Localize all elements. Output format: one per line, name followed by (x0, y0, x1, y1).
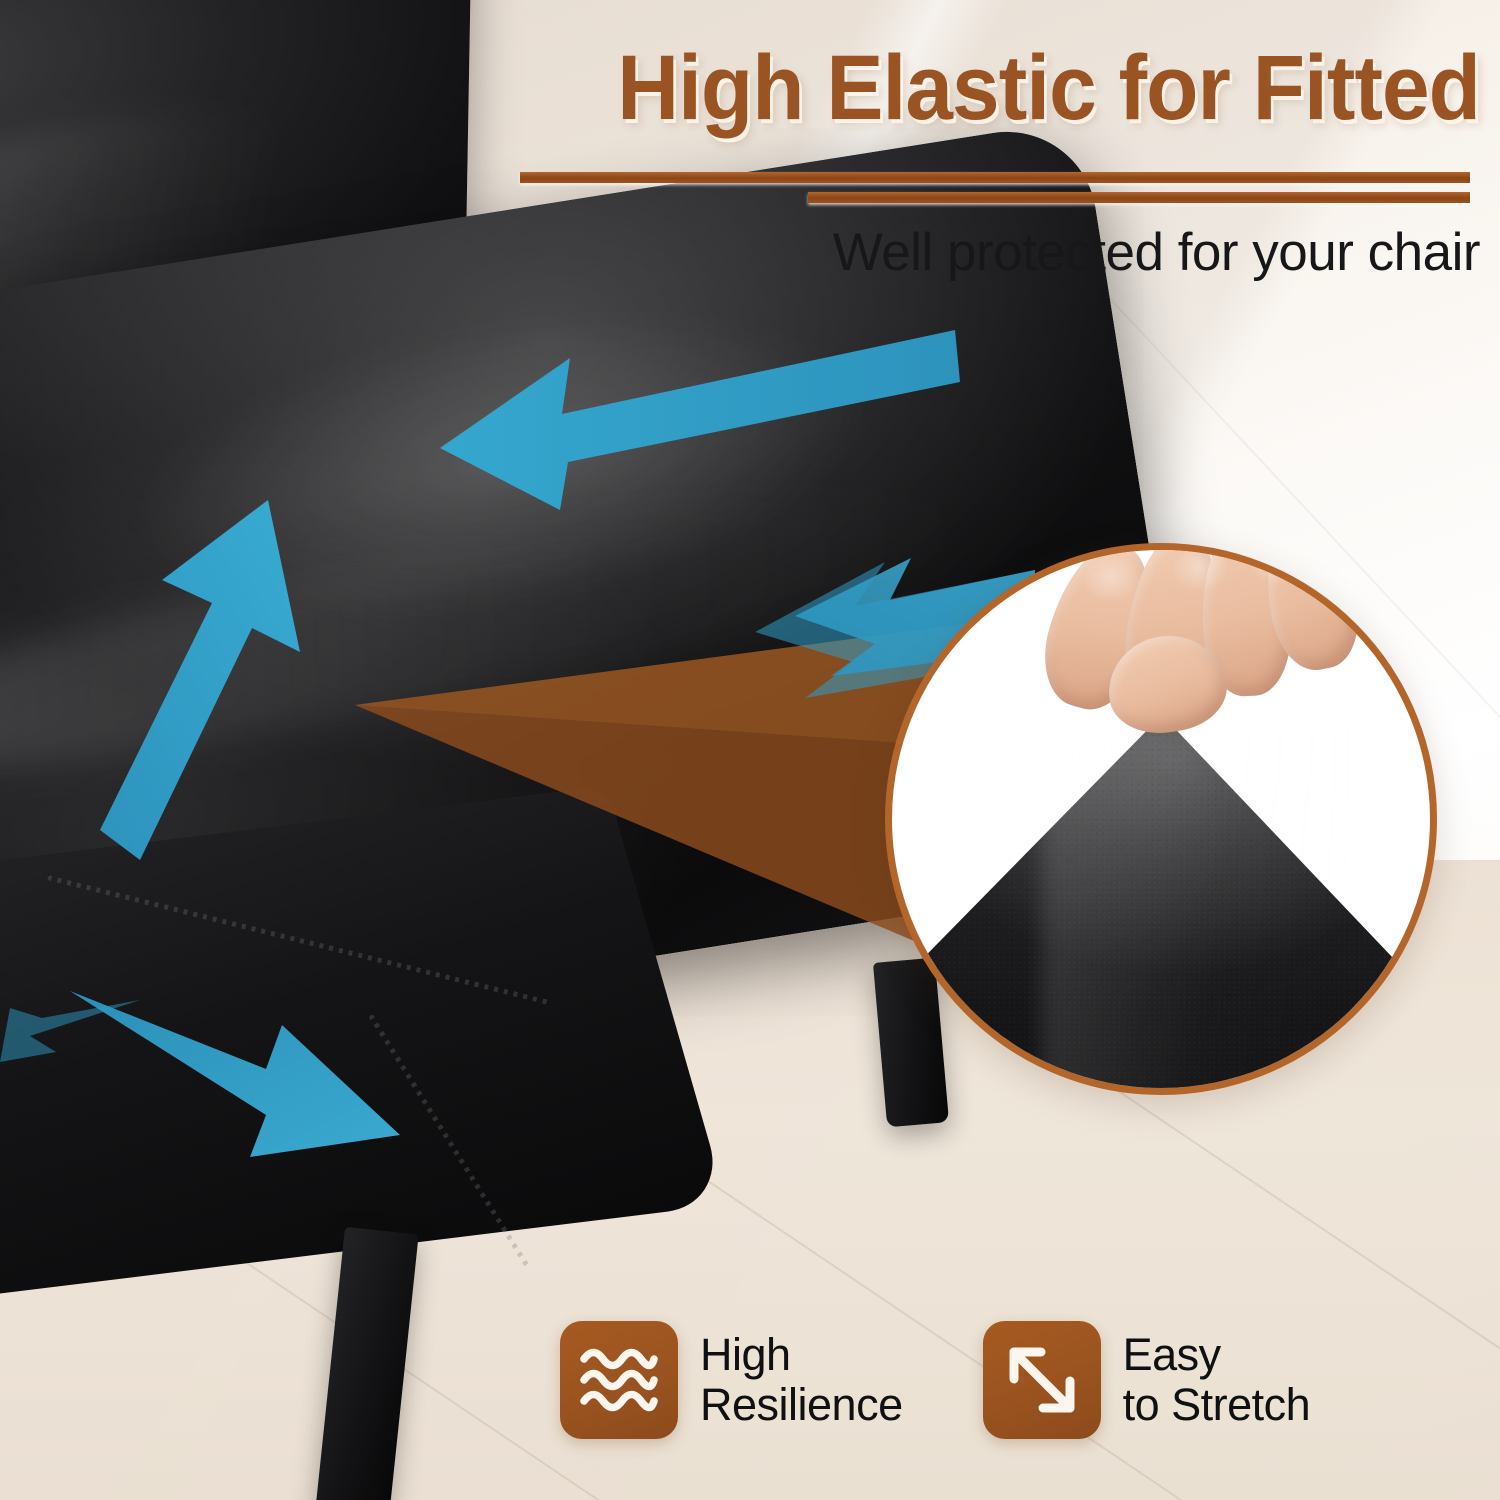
stretch-arrow-left-up (100, 500, 380, 860)
feature-badge-list: High Resilience Easy to Stretch (560, 1305, 1460, 1455)
knuckle-highlight (1250, 543, 1314, 598)
product-feature-image: High Elastic for Fitted Well protected f… (0, 0, 1500, 1500)
wavy-lines-icon (560, 1321, 678, 1439)
stretch-arrow-upper-left (440, 330, 960, 510)
diagonal-double-arrow-icon (983, 1321, 1101, 1439)
hand-pinching-fabric (1042, 543, 1372, 782)
page-subtitle: Well protected for your chair (520, 222, 1480, 283)
knuckle-highlight (1082, 556, 1152, 616)
page-title: High Elastic for Fitted (494, 42, 1480, 134)
feature-badge-label: Easy to Stretch (1123, 1330, 1311, 1431)
feature-badge-easy-to-stretch: Easy to Stretch (983, 1305, 1311, 1455)
title-rule-lower (808, 192, 1470, 203)
knuckle-highlight (1172, 546, 1242, 606)
fabric-closeup-magnifier (885, 543, 1437, 1095)
feature-badge-high-resilience: High Resilience (560, 1305, 903, 1455)
stretch-arrow-bottom-left (0, 1000, 140, 1070)
title-rule-upper (520, 172, 1470, 183)
feature-badge-label: High Resilience (700, 1330, 903, 1431)
